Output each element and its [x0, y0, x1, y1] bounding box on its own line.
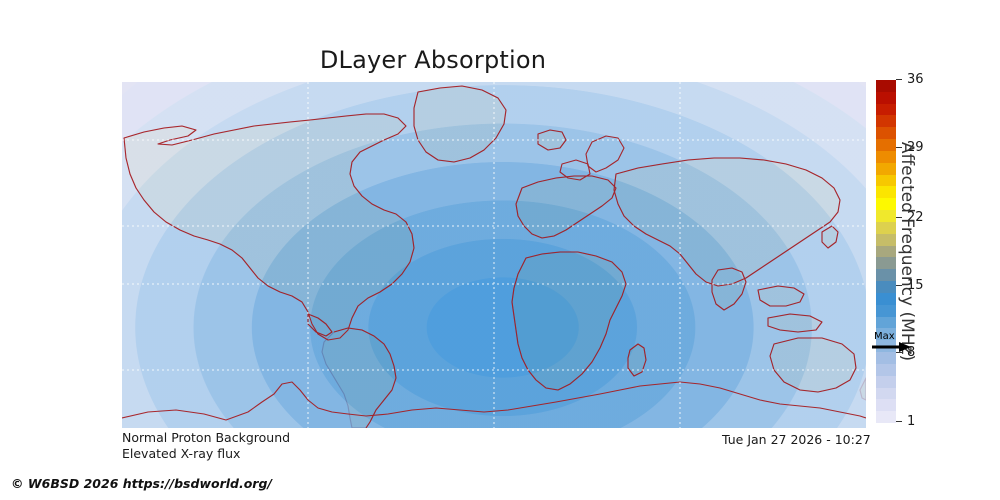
colorbar-band-13: [876, 257, 896, 269]
copyright-footer: © W6BSD 2026 https://bsdworld.org/: [11, 476, 272, 491]
colorbar-band-12: [876, 269, 896, 281]
colorbar-band-25: [876, 115, 896, 127]
colorbar-band-5: [876, 352, 896, 364]
colorbar-band-11: [876, 281, 896, 293]
colorbar-gradient: [876, 80, 896, 423]
colorbar-band-28: [876, 80, 896, 92]
colorbar-band-15: [876, 234, 896, 246]
page-title: DLayer Absorption: [0, 46, 866, 74]
colorbar-band-17: [876, 210, 896, 222]
colorbar-band-9: [876, 305, 896, 317]
colorbar-band-27: [876, 92, 896, 104]
colorbar-band-20: [876, 175, 896, 187]
colorbar-axis-label: Affected Frequency (MHz): [895, 80, 919, 423]
map-svg: [122, 82, 866, 428]
colorbar-band-7: [876, 328, 896, 340]
proton-background-text: Normal Proton Background: [122, 430, 290, 446]
colorbar-band-23: [876, 139, 896, 151]
colorbar-band-6: [876, 340, 896, 352]
colorbar-band-8: [876, 317, 896, 329]
world-absorption-map: [122, 82, 866, 428]
status-annotations: Normal Proton Background Elevated X-ray …: [122, 430, 290, 462]
colorbar-band-22: [876, 151, 896, 163]
colorbar-band-24: [876, 127, 896, 139]
colorbar-band-18: [876, 198, 896, 210]
colorbar-band-3: [876, 376, 896, 388]
timestamp-text: Tue Jan 27 2026 - 10:27: [722, 432, 871, 447]
colorbar-band-10: [876, 293, 896, 305]
colorbar-band-4: [876, 364, 896, 376]
colorbar-band-19: [876, 186, 896, 198]
colorbar-band-21: [876, 163, 896, 175]
colorbar-band-26: [876, 104, 896, 116]
xray-flux-text: Elevated X-ray flux: [122, 446, 290, 462]
colorbar: [876, 80, 896, 423]
colorbar-band-1: [876, 399, 896, 411]
dlayer-absorption-figure: DLayer Absorption: [0, 0, 1000, 500]
colorbar-band-16: [876, 222, 896, 234]
colorbar-band-0: [876, 411, 896, 423]
colorbar-band-14: [876, 246, 896, 258]
colorbar-band-2: [876, 388, 896, 400]
